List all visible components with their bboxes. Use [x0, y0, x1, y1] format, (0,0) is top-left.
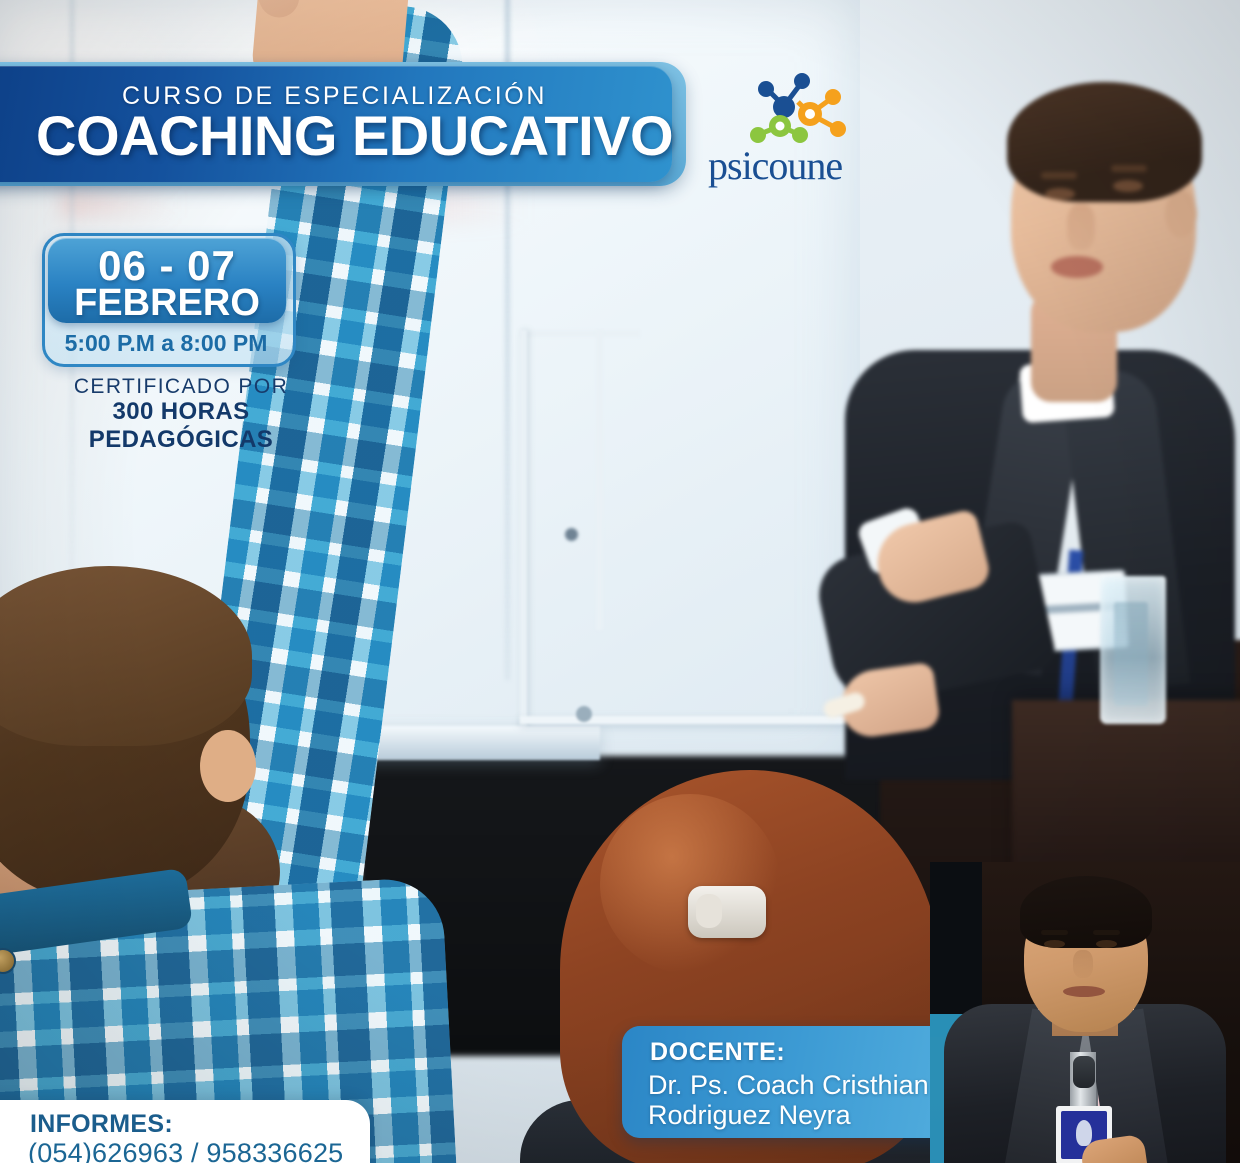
certification-label: CERTIFICADO POR [42, 375, 320, 399]
schedule-date-box: 06 - 07 FEBRERO [48, 238, 286, 323]
schedule-time: 5:00 P.M a 8:00 PM [42, 330, 290, 357]
instructor-hair [1020, 876, 1152, 948]
instructor-photo [930, 862, 1240, 1163]
contact-label: INFORMES: [30, 1110, 173, 1139]
logo-wordmark: psicoune [708, 142, 842, 189]
instructor-nose [1073, 950, 1093, 978]
instructor-brow-right [1093, 930, 1120, 935]
instructor-eye-left [1044, 940, 1065, 948]
microphone-head [1073, 1056, 1095, 1088]
instructor-eye-right [1096, 940, 1117, 948]
instructor-label: DOCENTE: [650, 1038, 785, 1067]
instructor-brow-left [1041, 930, 1068, 935]
contact-panel: INFORMES: (054)626963 / 958336625 [0, 1100, 370, 1163]
psicoune-logo: psicoune [706, 72, 866, 184]
contact-phones[interactable]: (054)626963 / 958336625 [28, 1138, 343, 1163]
instructor-mouth [1063, 986, 1105, 997]
microphone-logo-glyph [1076, 1120, 1092, 1146]
certification-hours: 300 HORAS PEDAGÓGICAS [22, 398, 340, 454]
poster-canvas: CURSO DE ESPECIALIZACIÓN COACHING EDUCAT… [0, 0, 1240, 1163]
molecule-network-icon [706, 72, 866, 152]
page-title: COACHING EDUCATIVO [36, 108, 673, 164]
schedule-month: FEBRERO [48, 282, 286, 325]
